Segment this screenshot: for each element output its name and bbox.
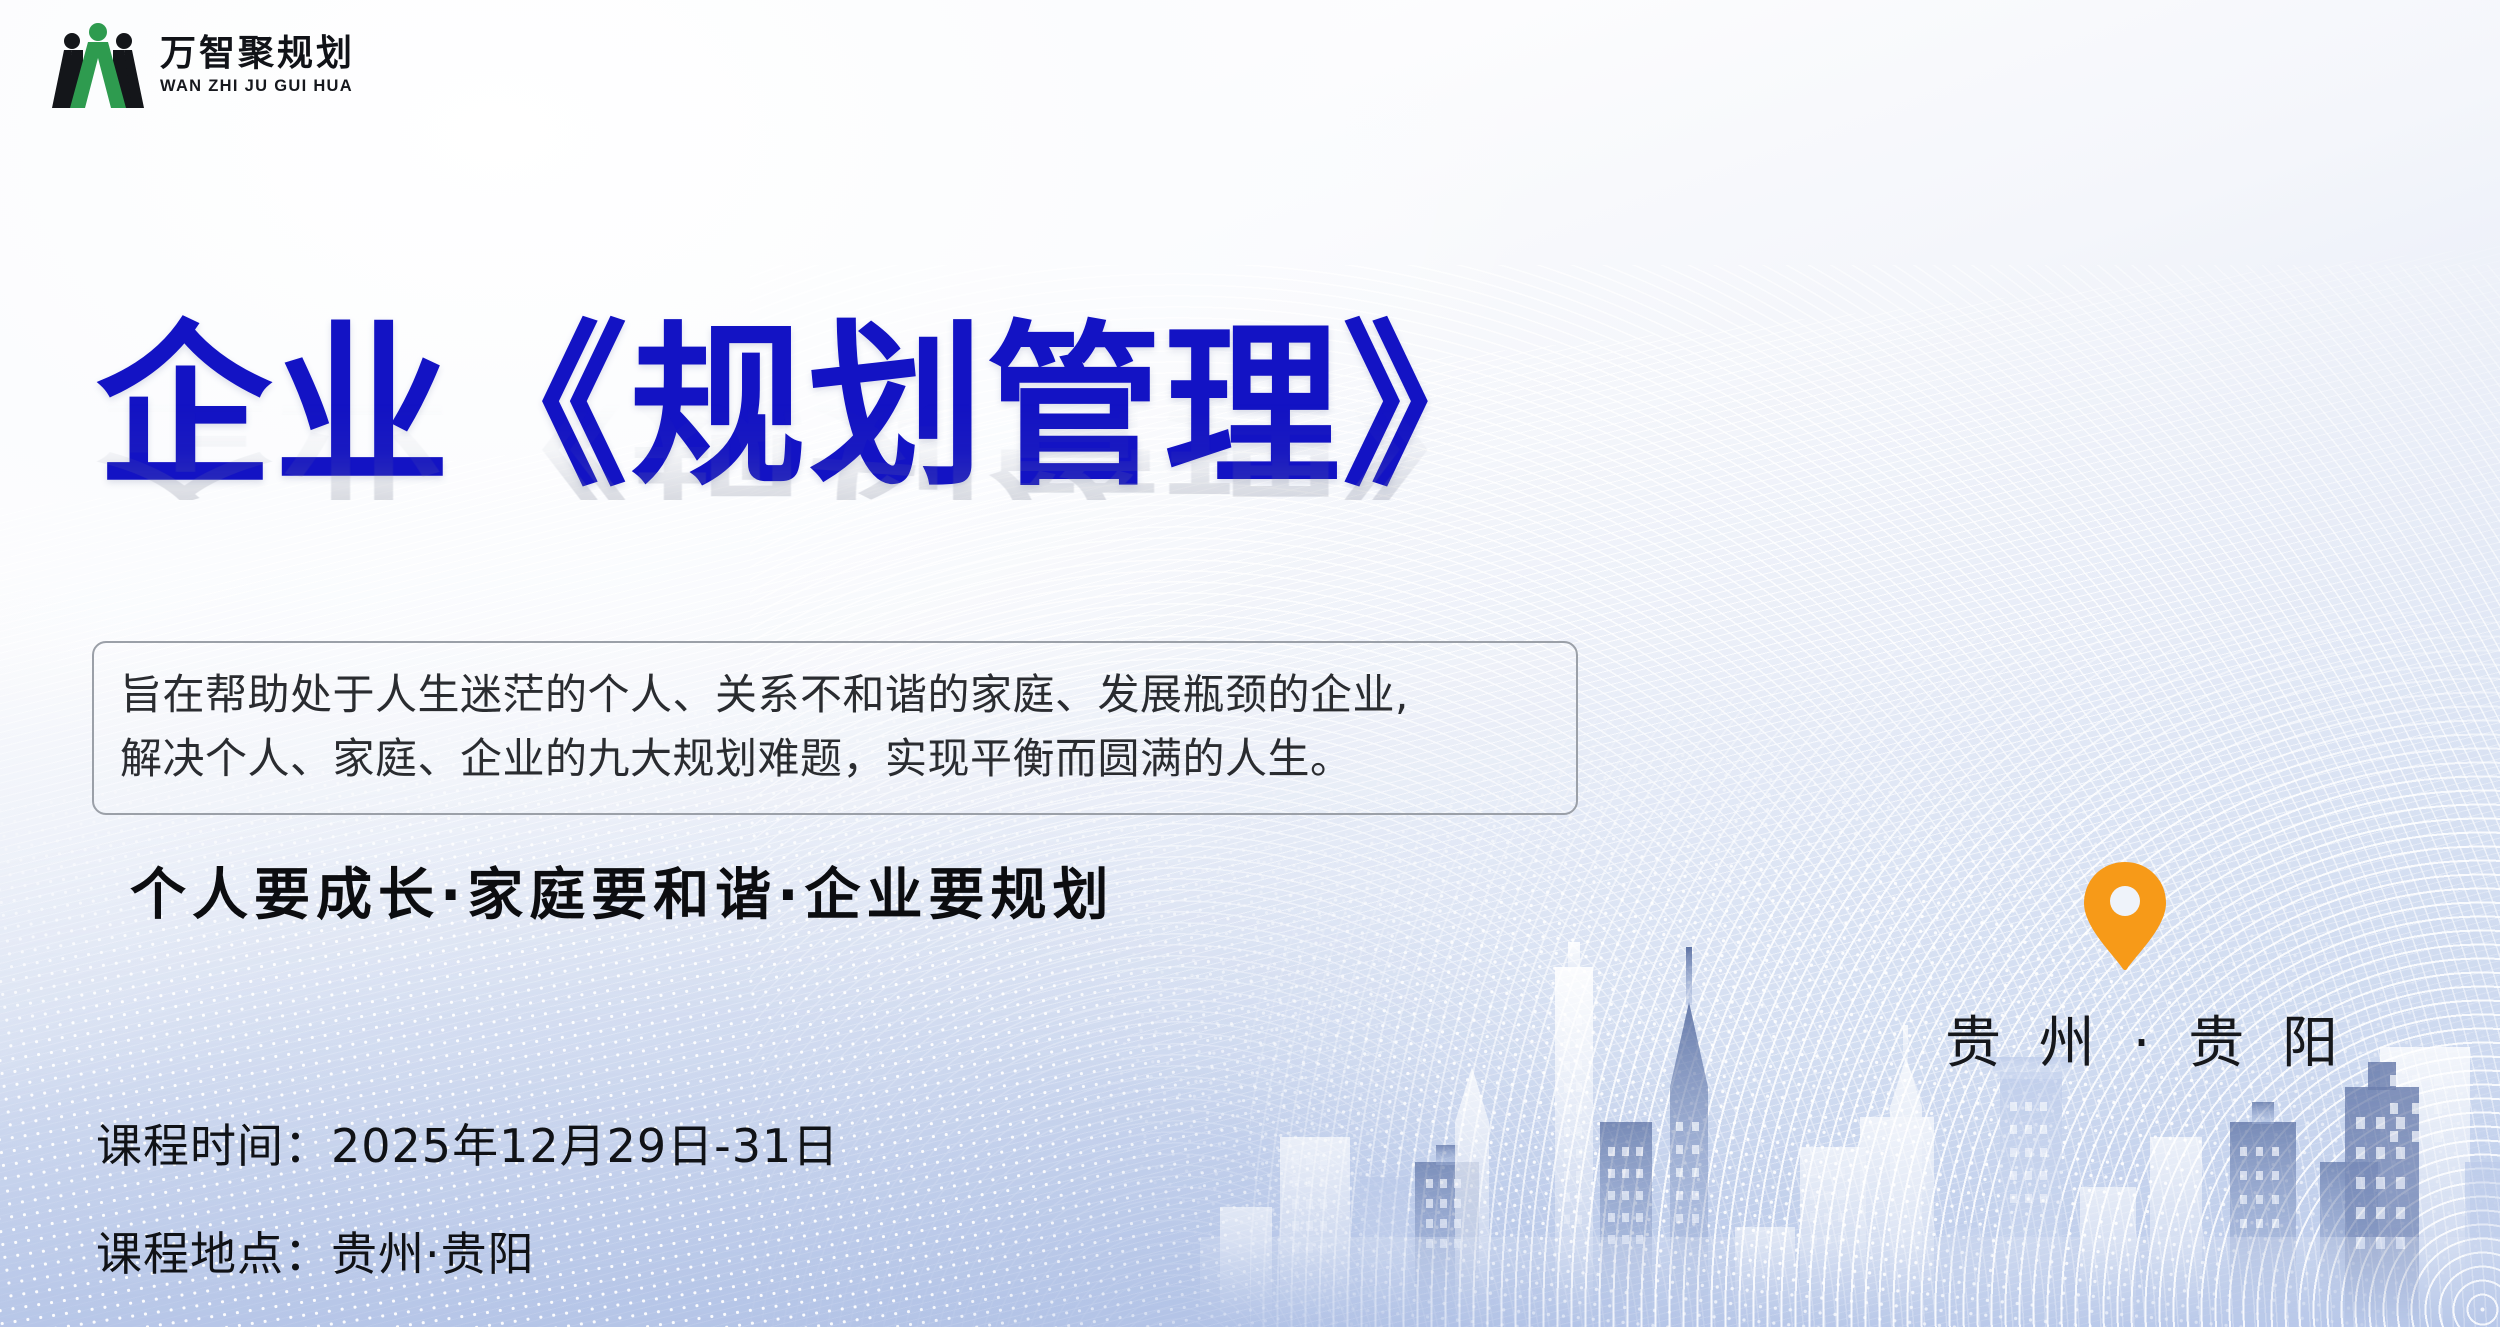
page-title-reflection: 企业《规划管理》 <box>96 391 1520 500</box>
course-place: 课程地点：贵州·贵阳 <box>96 1218 839 1284</box>
course-meta: 课程时间：2025年12月29日-31日 课程地点：贵州·贵阳 <box>96 1110 839 1284</box>
description-line-1: 旨在帮助处于人生迷茫的个人、关系不和谐的家庭、发展瓶颈的企业, <box>120 663 1550 727</box>
brand-logo: 万智聚规划 WAN ZHI JU GUI HUA <box>52 22 355 108</box>
map-pin-icon <box>2082 860 2168 972</box>
description-line-2: 解决个人、家庭、企业的九大规划难题，实现平衡而圆满的人生。 <box>120 727 1550 791</box>
location-block: 贵 州 · 贵 阳 <box>1945 860 2305 1079</box>
city-skyline-icon <box>1200 907 2500 1327</box>
three-people-logo-icon <box>52 22 144 108</box>
poster-canvas: 万智聚规划 WAN ZHI JU GUI HUA 企业《规划管理》 企业《规划管… <box>0 0 2500 1327</box>
brand-logo-text: 万智聚规划 WAN ZHI JU GUI HUA <box>160 35 355 95</box>
brand-name-cn: 万智聚规划 <box>160 35 355 71</box>
course-time: 课程时间：2025年12月29日-31日 <box>96 1110 839 1176</box>
location-name: 贵 州 · 贵 阳 <box>1945 998 2305 1079</box>
tagline: 个人要成长·家庭要和谐·企业要规划 <box>130 850 1115 931</box>
headline-block: 企业《规划管理》 企业《规划管理》 <box>96 320 1520 676</box>
brand-name-en: WAN ZHI JU GUI HUA <box>160 78 355 95</box>
description-box: 旨在帮助处于人生迷茫的个人、关系不和谐的家庭、发展瓶颈的企业, 解决个人、家庭、… <box>92 641 1578 815</box>
